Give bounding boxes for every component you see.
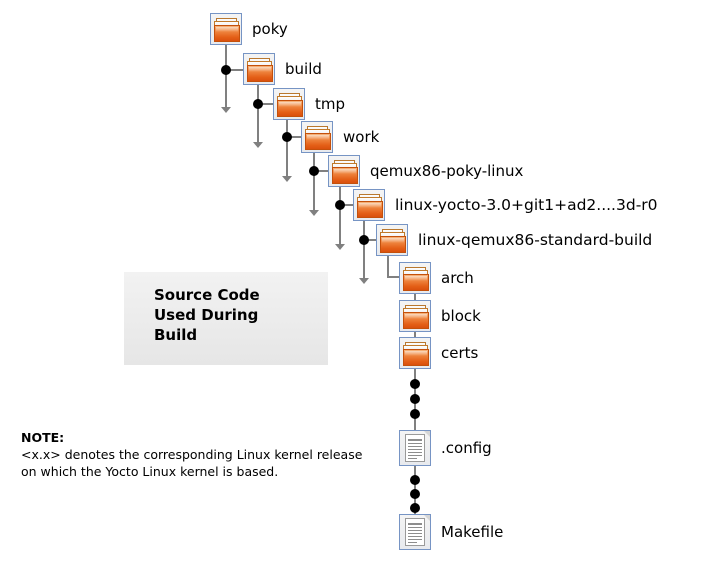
folder-icon — [301, 121, 333, 153]
diagram-canvas: poky build tmp work qemux86-poky-linux l… — [0, 0, 705, 581]
tree-node-label: block — [441, 308, 481, 324]
tree-node-label: tmp — [315, 96, 345, 112]
tree-node-block[interactable]: block — [399, 300, 481, 332]
tree-node-work[interactable]: work — [301, 121, 379, 153]
callout-box: Source Code Used During Build — [124, 272, 328, 365]
folder-icon — [210, 13, 242, 45]
note-block: NOTE: <x.x> denotes the corresponding Li… — [21, 430, 381, 480]
tree-node-label: linux-qemux86-standard-build — [418, 232, 652, 248]
tree-node-label: build — [285, 61, 322, 77]
tree-node-certs[interactable]: certs — [399, 337, 478, 369]
folder-icon — [353, 189, 385, 221]
tree-node-config[interactable]: .config — [399, 430, 492, 466]
folder-icon — [243, 53, 275, 85]
tree-node-linux-yocto[interactable]: linux-yocto-3.0+git1+ad2....3d-r0 — [353, 189, 658, 221]
tree-node-poky[interactable]: poky — [210, 13, 288, 45]
folder-icon — [328, 155, 360, 187]
tree-node-label: linux-yocto-3.0+git1+ad2....3d-r0 — [395, 197, 658, 213]
tree-node-label: qemux86-poky-linux — [370, 163, 523, 179]
callout-text: Source Code Used During Build — [154, 285, 260, 345]
tree-node-label: work — [343, 129, 379, 145]
folder-icon — [376, 224, 408, 256]
file-icon — [399, 514, 431, 550]
note-title: NOTE: — [21, 430, 381, 446]
folder-icon — [399, 262, 431, 294]
tree-node-qemux86-poky-linux[interactable]: qemux86-poky-linux — [328, 155, 523, 187]
tree-node-label: arch — [441, 270, 474, 286]
tree-node-build[interactable]: build — [243, 53, 322, 85]
file-icon — [399, 430, 431, 466]
connector-lines — [0, 0, 705, 581]
tree-node-label: .config — [441, 440, 492, 456]
folder-icon — [273, 88, 305, 120]
tree-node-linux-qemux86-standard-build[interactable]: linux-qemux86-standard-build — [376, 224, 652, 256]
tree-node-tmp[interactable]: tmp — [273, 88, 345, 120]
tree-node-label: certs — [441, 345, 478, 361]
tree-node-arch[interactable]: arch — [399, 262, 474, 294]
folder-icon — [399, 300, 431, 332]
note-body: <x.x> denotes the corresponding Linux ke… — [21, 446, 381, 480]
tree-node-makefile[interactable]: Makefile — [399, 514, 503, 550]
tree-node-label: poky — [252, 21, 288, 37]
tree-node-label: Makefile — [441, 524, 503, 540]
folder-icon — [399, 337, 431, 369]
